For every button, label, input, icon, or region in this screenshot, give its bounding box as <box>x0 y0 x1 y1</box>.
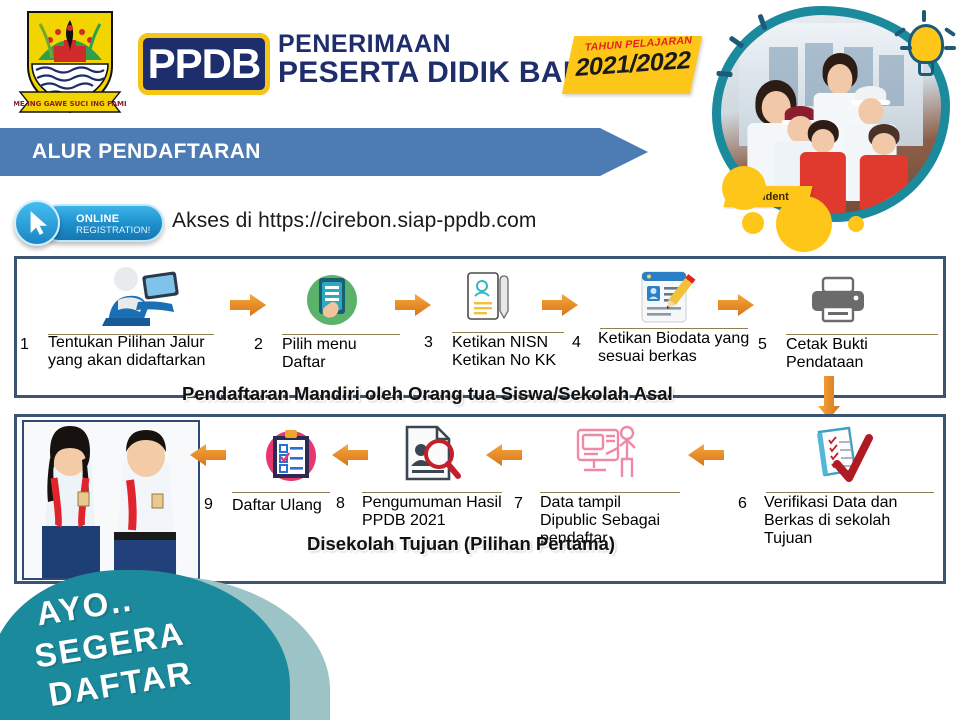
academic-year-ribbon: TAHUN PELAJARAN 2021/2022 <box>562 36 702 94</box>
crest-motto: RAME ING GAWE SUCI ING PAMRIH <box>14 100 126 108</box>
flow2-step-9-label: Daftar Ulang <box>232 497 332 515</box>
header-title-line2: PESERTA DIDIK BARU <box>278 57 607 89</box>
flow2-step-6-label: Verifikasi Data dan Berkas di sekolah Tu… <box>764 494 938 548</box>
registration-label: REGISTRATION! <box>76 225 151 236</box>
flow2-step-8 <box>380 424 480 482</box>
flow2-step-8-badge: 8 <box>336 495 345 513</box>
online-registration-badge[interactable]: ONLINE REGISTRATION! <box>14 200 164 246</box>
flow1-step-4-label: Ketikan Biodata yang sesuai berkas <box>598 330 750 366</box>
flow1-step-2 <box>272 274 392 326</box>
decor-dot <box>848 216 864 232</box>
hand-tablet-menu-icon <box>303 274 361 326</box>
decor-dot <box>776 196 832 252</box>
cirebon-crest-icon: RAME ING GAWE SUCI ING PAMRIH <box>14 6 126 118</box>
flow1-step-3-label: Ketikan NISN Ketikan No KK <box>452 334 568 370</box>
arrow-right-icon <box>716 292 756 318</box>
document-magnifier-icon <box>399 424 461 482</box>
arrow-right-icon <box>540 292 580 318</box>
flow2-step-6 <box>790 426 890 482</box>
flow1-step-5 <box>792 276 884 326</box>
decor-dot <box>742 212 764 234</box>
flow1-step-3-badge: 3 <box>424 334 433 352</box>
flow1-step-1-badge: 1 <box>20 336 29 354</box>
arrow-right-icon <box>228 292 268 318</box>
flow1-step-4-badge: 4 <box>572 334 581 352</box>
flow2-step-6-badge: 6 <box>738 495 747 513</box>
arrow-right-icon <box>393 292 433 318</box>
arrow-left-icon <box>686 442 726 468</box>
flow1-step-1 <box>42 266 242 324</box>
flow1-step-5-label: Cetak Bukti Pendataan <box>786 336 938 372</box>
access-url-text: Akses di https://cirebon.siap-ppdb.com <box>172 209 536 233</box>
cursor-arrow-icon <box>14 200 60 246</box>
arrow-left-icon <box>188 442 228 468</box>
clipboard-checkbox-icon <box>261 426 321 482</box>
person-at-laptop-icon <box>98 266 186 328</box>
flow1-step-2-badge: 2 <box>254 336 263 354</box>
flow2-step-8-label: Pengumuman Hasil PPDB 2021 <box>362 494 504 530</box>
arrow-left-icon <box>484 442 524 468</box>
lightbulb-icon <box>900 24 952 84</box>
flow2-step-9-badge: 9 <box>204 496 213 514</box>
flow1-step-3 <box>440 270 540 326</box>
biodata-form-pencil-icon <box>636 268 698 326</box>
banner-title: ALUR PENDAFTARAN <box>32 140 261 164</box>
ppdb-logo-text: PPDB <box>148 43 261 85</box>
printer-icon <box>808 276 868 326</box>
ppdb-flow-poster: RAME ING GAWE SUCI ING PAMRIH PPDB PENER… <box>0 0 960 720</box>
id-form-pen-icon <box>462 270 518 326</box>
flow2-step-9 <box>246 426 336 482</box>
arrow-left-icon <box>330 442 370 468</box>
decor-dot <box>722 166 766 210</box>
flow2-caption: Disekolah Tujuan (Pilihan Pertama) <box>307 533 615 555</box>
flow2-step-7 <box>558 424 658 482</box>
section-banner-alur-pendaftaran: ALUR PENDAFTARAN <box>0 128 648 176</box>
flow1-step-5-badge: 5 <box>758 336 767 354</box>
flow1-step-4 <box>612 268 722 326</box>
flow2-step-7-badge: 7 <box>514 495 523 513</box>
monitor-presenter-icon <box>574 424 642 482</box>
flow1-step-1-label: Tentukan Pilihan Jalur yang akan didafta… <box>48 334 234 370</box>
ppdb-logo: PPDB <box>138 33 270 95</box>
header-title-line1: PENERIMAAN <box>278 31 451 58</box>
checklist-clipboard-check-icon <box>807 426 873 484</box>
online-label: ONLINE <box>76 213 119 225</box>
students-photo-secondary <box>22 420 200 580</box>
flow1-step-2-label: Pilih menu Daftar <box>282 336 400 372</box>
flow1-caption: Pendaftaran Mandiri oleh Orang tua Siswa… <box>182 383 673 405</box>
